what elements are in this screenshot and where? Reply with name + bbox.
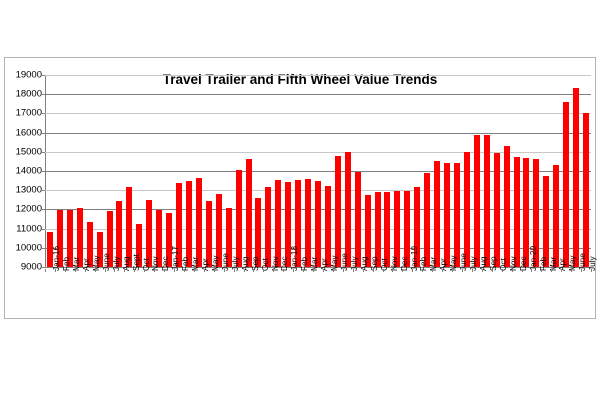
bar	[424, 173, 430, 267]
x-axis-tick-mark	[184, 269, 185, 272]
x-axis-tick-mark	[333, 269, 334, 272]
x-axis-tick-mark	[422, 269, 423, 272]
x-axis-tick-mark	[85, 269, 86, 272]
bar	[573, 88, 579, 267]
y-axis: 1900018000170001600015000140001300012000…	[5, 75, 42, 267]
x-axis-tick-label: Jan-20	[530, 246, 538, 271]
x-axis-tick-mark	[134, 269, 135, 272]
x-axis-tick-mark	[531, 269, 532, 272]
x-axis-tick-mark	[303, 269, 304, 272]
x-axis: Jan-16FebMarAprMayJuneJulyAugSeptOctNovD…	[45, 269, 591, 319]
bar	[305, 179, 311, 267]
x-axis-tick-mark	[462, 269, 463, 272]
gridline	[45, 113, 591, 114]
y-axis-tick-label: 10000	[6, 243, 42, 253]
bar	[196, 178, 202, 267]
bar	[514, 157, 520, 267]
bar	[464, 152, 470, 267]
x-axis-tick-mark	[174, 269, 175, 272]
x-axis-tick-mark	[512, 269, 513, 272]
bar	[355, 172, 361, 267]
x-axis-tick-mark	[55, 269, 56, 272]
y-axis-tick-label: 18000	[6, 89, 42, 99]
x-axis-tick-label: Jan-17	[172, 246, 180, 271]
x-axis-tick-mark	[45, 269, 46, 272]
x-axis-tick-mark	[353, 269, 354, 272]
x-axis-tick-mark	[591, 269, 592, 272]
x-axis-tick-mark	[392, 269, 393, 272]
x-axis-tick-mark	[541, 269, 542, 272]
bar	[345, 152, 351, 267]
x-axis-tick-mark	[313, 269, 314, 272]
x-axis-tick-mark	[571, 269, 572, 272]
bar	[504, 146, 510, 267]
x-axis-tick-mark	[144, 269, 145, 272]
x-axis-tick-mark	[124, 269, 125, 272]
bar	[275, 180, 281, 267]
gridline	[45, 94, 591, 95]
x-axis-tick-mark	[105, 269, 106, 272]
x-axis-tick-mark	[214, 269, 215, 272]
x-axis-tick-mark	[293, 269, 294, 272]
x-axis-tick-mark	[204, 269, 205, 272]
y-axis-tick-label: 16000	[6, 128, 42, 138]
bar	[236, 170, 242, 267]
y-axis-tick-label: 17000	[6, 109, 42, 119]
bar	[543, 176, 549, 267]
bar	[454, 163, 460, 267]
x-axis-tick-mark	[412, 269, 413, 272]
bar	[474, 135, 480, 267]
bar	[434, 161, 440, 267]
x-axis-tick-mark	[472, 269, 473, 272]
x-axis-tick-mark	[154, 269, 155, 272]
x-axis-tick-mark	[383, 269, 384, 272]
x-axis-tick-mark	[244, 269, 245, 272]
x-axis-tick-mark	[114, 269, 115, 272]
x-axis-tick-mark	[581, 269, 582, 272]
x-axis-tick-mark	[194, 269, 195, 272]
x-axis-tick-mark	[363, 269, 364, 272]
x-axis-tick-mark	[402, 269, 403, 272]
x-axis-tick-mark	[561, 269, 562, 272]
bar	[563, 102, 569, 267]
bar	[553, 165, 559, 267]
bar	[494, 153, 500, 267]
x-axis-tick-mark	[551, 269, 552, 272]
bar	[335, 156, 341, 267]
x-axis-tick-mark	[323, 269, 324, 272]
bar	[186, 181, 192, 267]
x-axis-tick-mark	[283, 269, 284, 272]
x-axis-tick-mark	[502, 269, 503, 272]
x-axis-tick-label: Jan-16	[53, 246, 61, 271]
x-axis-tick-label: Jan-18	[291, 246, 299, 271]
x-axis-tick-mark	[442, 269, 443, 272]
bar	[246, 159, 252, 267]
x-axis-tick-mark	[253, 269, 254, 272]
bar	[484, 135, 490, 267]
y-axis-tick-label: 9000	[6, 262, 42, 272]
x-axis-tick-label: Jan-19	[411, 246, 419, 271]
x-axis-tick-mark	[65, 269, 66, 272]
plot-area	[45, 75, 591, 267]
x-axis-tick-mark	[234, 269, 235, 272]
gridline	[45, 133, 591, 134]
y-axis-tick-label: 11000	[6, 224, 42, 234]
gridline	[45, 75, 591, 76]
bar	[315, 181, 321, 267]
y-axis-tick-label: 14000	[6, 166, 42, 176]
y-axis-tick-label: 19000	[6, 70, 42, 80]
x-axis-tick-mark	[492, 269, 493, 272]
x-axis-tick-mark	[522, 269, 523, 272]
x-axis-tick-mark	[224, 269, 225, 272]
x-axis-tick-mark	[373, 269, 374, 272]
x-axis-tick-mark	[273, 269, 274, 272]
x-axis-tick-mark	[164, 269, 165, 272]
x-axis-tick-mark	[95, 269, 96, 272]
y-axis-tick-label: 12000	[6, 205, 42, 215]
y-axis-tick-label: 15000	[6, 147, 42, 157]
x-axis-tick-mark	[432, 269, 433, 272]
x-axis-tick-mark	[343, 269, 344, 272]
x-axis-tick-mark	[452, 269, 453, 272]
y-axis-tick-label: 13000	[6, 185, 42, 195]
x-axis-tick-mark	[263, 269, 264, 272]
bar	[583, 113, 589, 267]
x-axis-tick-mark	[482, 269, 483, 272]
x-axis-tick-mark	[75, 269, 76, 272]
chart-container: Travel Trailer and Fifth Wheel Value Tre…	[4, 57, 596, 319]
bar	[444, 163, 450, 267]
